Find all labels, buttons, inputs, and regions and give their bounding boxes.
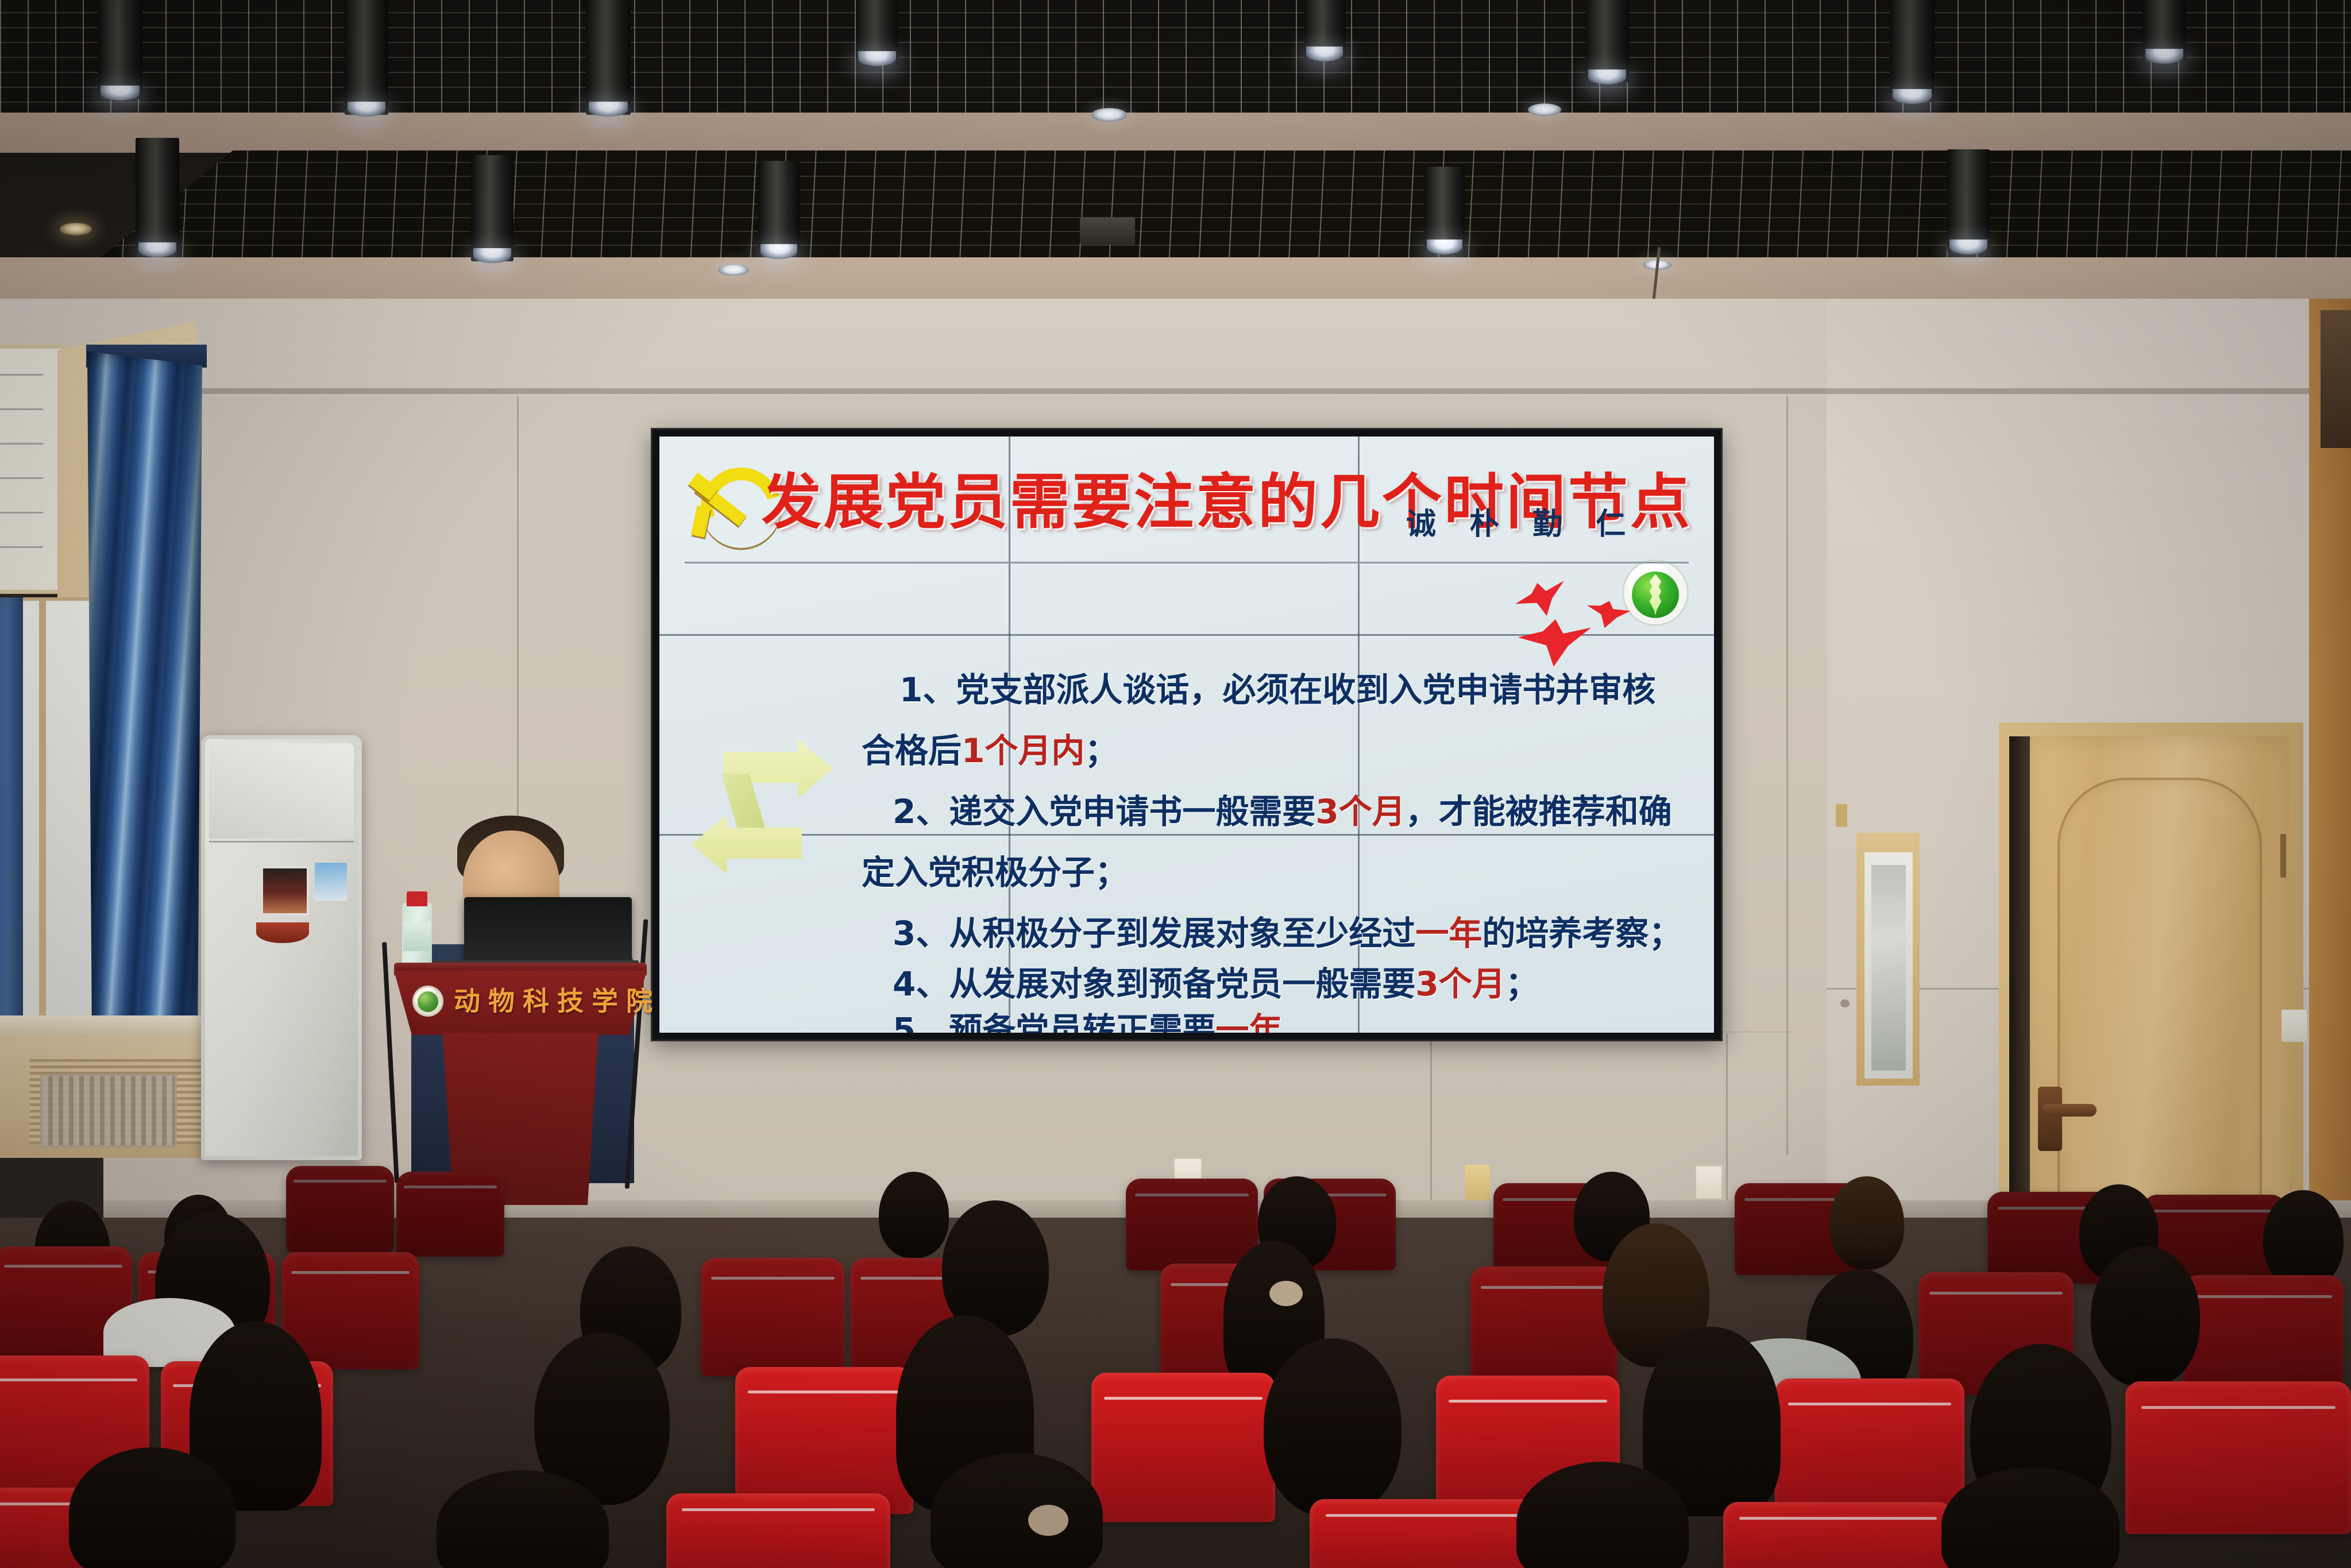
floor-standing-air-conditioner <box>201 735 362 1160</box>
recessed-ceiling-light <box>718 264 749 276</box>
ac-display-panel[interactable] <box>261 866 309 916</box>
seat <box>1091 1373 1275 1522</box>
ceiling-soffit-band-2 <box>0 257 2351 302</box>
seat <box>396 1172 504 1257</box>
video-wall-display[interactable]: 发展党员需要注意的几个时间节点 诚 朴 勤 仁 1、党支部派人谈话，必须在收到入… <box>659 437 1714 1033</box>
pendant-spotlight <box>471 155 514 261</box>
wall-switch-plate[interactable] <box>2281 1010 2307 1042</box>
seat <box>735 1367 913 1514</box>
window-curtain <box>87 352 202 1046</box>
recessed-ceiling-light <box>60 223 92 235</box>
pendant-spotlight <box>586 0 631 115</box>
seat <box>701 1258 844 1376</box>
seat <box>2183 1275 2344 1399</box>
pendant-spotlight <box>98 0 142 99</box>
line-prefix: 4、 <box>893 964 949 1003</box>
hammer-and-sickle-party-emblem <box>684 464 757 540</box>
door-lock-escutcheon <box>2038 1087 2062 1151</box>
bottle-label <box>403 922 431 951</box>
line-suffix: 。 <box>1282 1010 1315 1033</box>
wall-ceiling-edge <box>0 388 2351 394</box>
pendant-spotlight <box>1890 0 1935 102</box>
slide-body-line: 定入党积极分子； <box>862 845 1128 894</box>
wall-seam <box>1726 1034 1728 1223</box>
niche-window-glass <box>1871 865 1906 1071</box>
pendant-spotlight <box>345 0 388 115</box>
line-prefix: 合格后 <box>862 731 962 770</box>
wall-screw <box>1840 999 1850 1007</box>
audience-head <box>2263 1190 2344 1288</box>
pendant-spotlight <box>758 161 800 257</box>
line-prefix: 3、 <box>893 914 949 953</box>
ceiling-soffit-band-1 <box>0 113 2351 153</box>
slide-body-line: 1、党支部派人谈话，必须在收到入党申请书并审核 <box>900 663 1655 711</box>
line-suffix: ； <box>1505 964 1539 1003</box>
ceiling-speaker-box <box>1080 217 1135 245</box>
line-text: 从积极分子到发展对象至少经过 <box>949 914 1415 953</box>
wall-switch-plate[interactable] <box>1465 1165 1490 1203</box>
door-hinge <box>2280 834 2286 878</box>
pendant-spotlight <box>136 138 179 256</box>
ac-energy-label <box>315 863 347 901</box>
line-prefix: 5、 <box>893 1010 949 1033</box>
hair-scrunchie <box>1269 1281 1303 1306</box>
line-highlight: 1个月内 <box>962 731 1084 770</box>
pendant-spotlight <box>1425 167 1465 253</box>
pendant-spotlight <box>2142 0 2186 62</box>
audience-head <box>1264 1338 1402 1516</box>
line-suffix: ； <box>1084 731 1118 770</box>
pendant-spotlight <box>1585 0 1629 83</box>
window-curtain-left-sheer <box>0 597 23 1022</box>
line-highlight: 一年 <box>1415 914 1482 953</box>
slide-body-line: 2、递交入党申请书一般需要3个月，才能被推荐和确 <box>893 785 1672 833</box>
slide-body-line: 5、预备党员转正需要一年。 <box>893 1003 1315 1033</box>
z-arrow-graphic <box>692 739 833 874</box>
seat <box>2125 1381 2351 1534</box>
line-suffix: ，才能被推荐和确 <box>1406 792 1672 831</box>
ceiling-grille-panel-mid <box>98 150 2351 260</box>
seat <box>1310 1499 1539 1568</box>
line-suffix: 的培养考察； <box>1482 914 1682 953</box>
line-text: 1、党支部派人谈话，必须在收到入党申请书并审核 <box>900 670 1655 709</box>
pendant-spotlight <box>1304 0 1345 60</box>
bottle-cap <box>407 891 427 906</box>
seat <box>1470 1266 1617 1388</box>
university-seal-logo <box>1622 559 1689 626</box>
audience-head <box>1829 1176 1904 1269</box>
line-highlight: 一年 <box>1215 1010 1282 1033</box>
seat <box>286 1166 394 1252</box>
line-prefix: 2、 <box>893 792 949 831</box>
line-highlight: 3个月 <box>1315 792 1405 831</box>
ac-panel-seam <box>209 841 354 843</box>
wall-power-outlet[interactable] <box>1694 1165 1723 1200</box>
line-text: 从发展对象到预备党员一般需要 <box>949 964 1415 1003</box>
ac-air-grille <box>209 743 354 839</box>
recessed-ceiling-light <box>1528 103 1561 116</box>
ac-brand-badge <box>256 922 309 943</box>
line-text: 递交入党申请书一般需要 <box>949 792 1315 831</box>
college-seal-logo <box>412 986 443 1017</box>
slide-body-line: 合格后1个月内； <box>862 724 1118 772</box>
wall-hook <box>1836 804 1847 827</box>
seat <box>1723 1502 1953 1568</box>
wall-seam <box>1786 396 1788 1154</box>
hair-scrunchie <box>1028 1505 1068 1536</box>
recessed-ceiling-light <box>1091 108 1127 122</box>
seat <box>1126 1179 1258 1270</box>
flying-dove-icon <box>1512 577 1572 624</box>
wall-seam <box>1430 1034 1432 1223</box>
slide-title-divider <box>685 562 1689 563</box>
line-highlight: 3个月 <box>1415 964 1505 1003</box>
window-mullion <box>39 601 46 1026</box>
pendant-spotlight <box>856 0 898 64</box>
lecture-hall-photo: 发展党员需要注意的几个时间节点 诚 朴 勤 仁 1、党支部派人谈话，必须在收到入… <box>0 0 2351 1568</box>
wall-notice-board <box>0 345 65 594</box>
slide-body-line: 4、从发展对象到预备党员一般需要3个月； <box>893 957 1539 1005</box>
line-text: 预备党员转正需要 <box>949 1010 1215 1033</box>
door-panel-inset <box>2057 778 2262 1257</box>
recessed-window-niche <box>1856 833 1920 1086</box>
pendant-spotlight <box>1947 149 1990 253</box>
audience-head <box>879 1172 949 1258</box>
laptop[interactable] <box>464 897 632 971</box>
door-handle[interactable] <box>2041 1104 2097 1117</box>
wall-corner-trim-glass <box>2321 310 2351 448</box>
radiator-cover <box>40 1074 177 1148</box>
audience-head <box>2091 1246 2200 1387</box>
podium-label: 动物科技学院 <box>454 987 661 1015</box>
slide-body-line: 3、从积极分子到发展对象至少经过一年的培养考察； <box>893 906 1682 955</box>
university-motto-seal-script: 诚 朴 勤 仁 <box>1406 500 1637 543</box>
seat <box>666 1493 890 1568</box>
line-text: 定入党积极分子； <box>862 853 1128 892</box>
